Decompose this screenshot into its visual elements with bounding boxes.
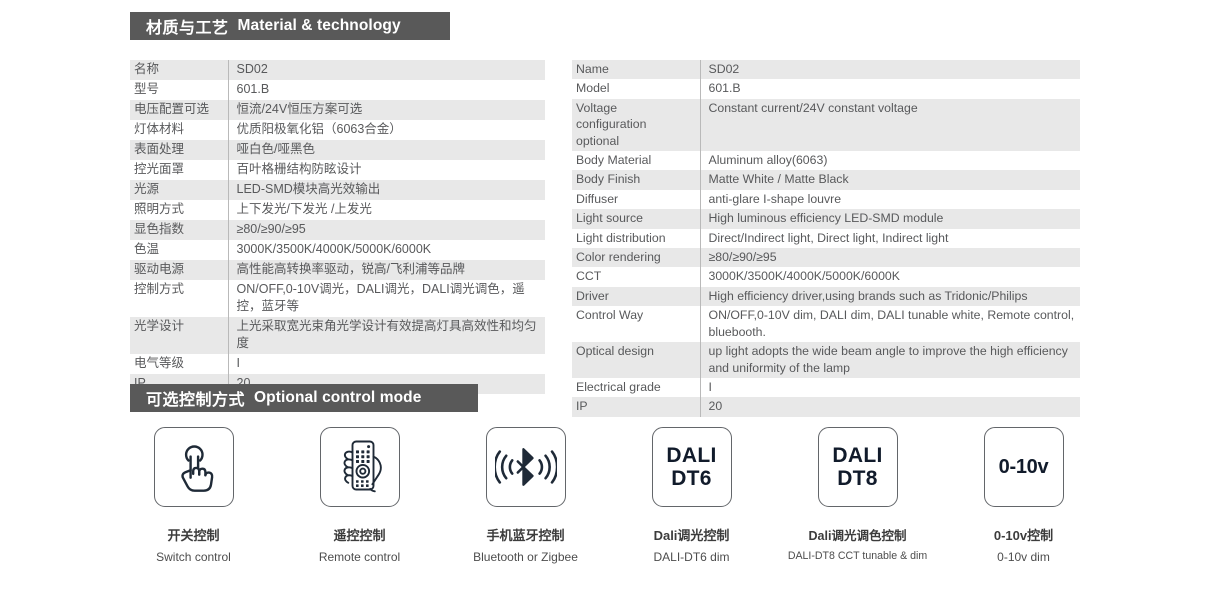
table-row: CCT3000K/3500K/4000K/5000K/6000K: [572, 267, 1080, 286]
control-mode-label-en: Switch control: [156, 550, 231, 564]
remote-control-icon[interactable]: [320, 427, 400, 507]
control-mode-item[interactable]: 手机蓝牙控制Bluetooth or Zigbee: [458, 427, 593, 564]
table-row: Light distributionDirect/Indirect light,…: [572, 229, 1080, 248]
control-mode-item[interactable]: DALIDT6Dali调光控制DALI-DT6 dim: [624, 427, 759, 564]
hand-tap-icon[interactable]: [154, 427, 234, 507]
table-row: 灯体材料优质阳极氧化铝（6063合金）: [130, 120, 545, 140]
table-row: Color rendering≥80/≥90/≥95: [572, 248, 1080, 267]
spec-value: Aluminum alloy(6063): [700, 151, 1080, 170]
banner-title-cn: 材质与工艺: [146, 14, 229, 38]
spec-key: 控光面罩: [130, 160, 228, 180]
control-mode-label-en: Remote control: [319, 550, 400, 564]
control-mode-label-cn: 0-10v控制: [994, 525, 1053, 544]
table-row: 电压配置可选恒流/24V恒压方案可选: [130, 100, 545, 120]
table-row: 控光面罩百叶格栅结构防眩设计: [130, 160, 545, 180]
spec-key: 名称: [130, 60, 228, 80]
table-row: 型号601.B: [130, 80, 545, 100]
spec-value: ≥80/≥90/≥95: [228, 220, 545, 240]
control-mode-label-cn: Dali调光调色控制: [809, 525, 907, 544]
spec-table-cn: 名称SD02型号601.B电压配置可选恒流/24V恒压方案可选灯体材料优质阳极氧…: [130, 60, 545, 394]
spec-key: 控制方式: [130, 280, 228, 317]
control-mode-label-cn: 开关控制: [167, 525, 219, 544]
control-mode-label-en: DALI-DT8 CCT tunable & dim: [788, 550, 927, 562]
spec-value: SD02: [228, 60, 545, 80]
spec-value: I: [700, 378, 1080, 397]
spec-key: IP: [572, 397, 700, 416]
spec-key: Light distribution: [572, 229, 700, 248]
spec-key: 表面处理: [130, 140, 228, 160]
bluetooth-signal-icon[interactable]: [486, 427, 566, 507]
control-mode-label-en: 0-10v dim: [997, 550, 1050, 564]
spec-key: Color rendering: [572, 248, 700, 267]
spec-key: Control Way: [572, 306, 700, 342]
spec-value: ≥80/≥90/≥95: [700, 248, 1080, 267]
control-mode-label-en: Bluetooth or Zigbee: [473, 550, 578, 564]
spec-value: 优质阳极氧化铝（6063合金）: [228, 120, 545, 140]
control-mode-label-cn: 手机蓝牙控制: [486, 525, 564, 544]
spec-key: Electrical grade: [572, 378, 700, 397]
spec-value: ON/OFF,0-10V调光，DALI调光，DALI调光调色，遥控，蓝牙等: [228, 280, 545, 317]
spec-value: High luminous efficiency LED-SMD module: [700, 209, 1080, 228]
spec-value: anti-glare I-shape louvre: [700, 190, 1080, 209]
table-row: Body FinishMatte White / Matte Black: [572, 170, 1080, 189]
spec-key: 灯体材料: [130, 120, 228, 140]
zero-to-ten-volt-icon[interactable]: 0-10v: [984, 427, 1064, 507]
table-row: 光源LED-SMD模块高光效输出: [130, 180, 545, 200]
spec-key: 型号: [130, 80, 228, 100]
table-row: NameSD02: [572, 60, 1080, 79]
dali-dt8-icon[interactable]: DALIDT8: [818, 427, 898, 507]
control-mode-list: 开关控制Switch control 遥控控制: [126, 427, 1091, 564]
banner-title-en: Material & technology: [238, 17, 401, 35]
table-row: 表面处理哑白色/哑黑色: [130, 140, 545, 160]
spec-key: CCT: [572, 267, 700, 286]
icon-text-line2: DT8: [832, 467, 882, 490]
spec-key: Optical design: [572, 342, 700, 378]
control-mode-label-en: DALI-DT6 dim: [653, 550, 729, 564]
table-row: 光学设计上光采取宽光束角光学设计有效提高灯具高效性和均匀度: [130, 317, 545, 354]
spec-key: Driver: [572, 287, 700, 306]
spec-value: Constant current/24V constant voltage: [700, 99, 1080, 151]
spec-value: 3000K/3500K/4000K/5000K/6000K: [700, 267, 1080, 286]
spec-key: Model: [572, 79, 700, 98]
icon-text-line1: DALI: [666, 444, 716, 467]
spec-value: 上下发光/下发光 /上发光: [228, 200, 545, 220]
dali-dt6-icon[interactable]: DALIDT6: [652, 427, 732, 507]
spec-key: Body Finish: [572, 170, 700, 189]
spec-value: 百叶格栅结构防眩设计: [228, 160, 545, 180]
spec-value: 上光采取宽光束角光学设计有效提高灯具高效性和均匀度: [228, 317, 545, 354]
spec-value: 恒流/24V恒压方案可选: [228, 100, 545, 120]
icon-text-line1: 0-10v: [999, 456, 1049, 479]
control-mode-item[interactable]: DALIDT8Dali调光调色控制DALI-DT8 CCT tunable & …: [790, 427, 925, 564]
spec-value: SD02: [700, 60, 1080, 79]
icon-text-line1: DALI: [832, 444, 882, 467]
spec-table-en: NameSD02Model601.BVoltage configuration …: [572, 60, 1080, 417]
spec-key: Voltage configuration optional: [572, 99, 700, 151]
spec-value: High efficiency driver,using brands such…: [700, 287, 1080, 306]
table-row: 名称SD02: [130, 60, 545, 80]
table-row: IP20: [572, 397, 1080, 416]
spec-value: Matte White / Matte Black: [700, 170, 1080, 189]
spec-value: 601.B: [700, 79, 1080, 98]
table-row: Body MaterialAluminum alloy(6063): [572, 151, 1080, 170]
spec-key: 驱动电源: [130, 260, 228, 280]
table-row: 显色指数≥80/≥90/≥95: [130, 220, 545, 240]
table-row: 色温3000K/3500K/4000K/5000K/6000K: [130, 240, 545, 260]
table-row: Control WayON/OFF,0-10V dim, DALI dim, D…: [572, 306, 1080, 342]
control-mode-item[interactable]: 遥控控制Remote control: [292, 427, 427, 564]
spec-key: 色温: [130, 240, 228, 260]
spec-value: ON/OFF,0-10V dim, DALI dim, DALI tunable…: [700, 306, 1080, 342]
spec-value: LED-SMD模块高光效输出: [228, 180, 545, 200]
section-banner-material: 材质与工艺 Material & technology: [130, 12, 450, 40]
spec-value: up light adopts the wide beam angle to i…: [700, 342, 1080, 378]
spec-key: 电压配置可选: [130, 100, 228, 120]
table-row: 控制方式ON/OFF,0-10V调光，DALI调光，DALI调光调色，遥控，蓝牙…: [130, 280, 545, 317]
spec-value: 3000K/3500K/4000K/5000K/6000K: [228, 240, 545, 260]
control-mode-label-cn: Dali调光控制: [654, 525, 730, 544]
table-row: Model601.B: [572, 79, 1080, 98]
table-row: 照明方式上下发光/下发光 /上发光: [130, 200, 545, 220]
control-mode-item[interactable]: 开关控制Switch control: [126, 427, 261, 564]
spec-value: 高性能高转换率驱动，锐高/飞利浦等品牌: [228, 260, 545, 280]
table-row: Diffuseranti-glare I-shape louvre: [572, 190, 1080, 209]
table-row: 电气等级I: [130, 354, 545, 374]
spec-sheet-page: 材质与工艺 Material & technology 名称SD02型号601.…: [0, 0, 1213, 604]
banner-title-cn: 可选控制方式: [146, 386, 245, 410]
table-row: Electrical gradeI: [572, 378, 1080, 397]
section-banner-control: 可选控制方式 Optional control mode: [130, 384, 478, 412]
table-row: Light sourceHigh luminous efficiency LED…: [572, 209, 1080, 228]
spec-key: 光源: [130, 180, 228, 200]
spec-value: 哑白色/哑黑色: [228, 140, 545, 160]
spec-key: 电气等级: [130, 354, 228, 374]
spec-key: Body Material: [572, 151, 700, 170]
spec-value: 601.B: [228, 80, 545, 100]
spec-key: Diffuser: [572, 190, 700, 209]
spec-key: 显色指数: [130, 220, 228, 240]
table-row: 驱动电源高性能高转换率驱动，锐高/飞利浦等品牌: [130, 260, 545, 280]
spec-value: Direct/Indirect light, Direct light, Ind…: [700, 229, 1080, 248]
table-row: Optical designup light adopts the wide b…: [572, 342, 1080, 378]
spec-value: 20: [700, 397, 1080, 416]
icon-text-line2: DT6: [666, 467, 716, 490]
spec-key: 照明方式: [130, 200, 228, 220]
table-row: DriverHigh efficiency driver,using brand…: [572, 287, 1080, 306]
spec-key: 光学设计: [130, 317, 228, 354]
table-row: Voltage configuration optionalConstant c…: [572, 99, 1080, 151]
spec-value: I: [228, 354, 545, 374]
banner-title-en: Optional control mode: [254, 389, 421, 407]
control-mode-label-cn: 遥控控制: [333, 525, 385, 544]
spec-key: Light source: [572, 209, 700, 228]
spec-key: Name: [572, 60, 700, 79]
control-mode-item[interactable]: 0-10v0-10v控制0-10v dim: [956, 427, 1091, 564]
